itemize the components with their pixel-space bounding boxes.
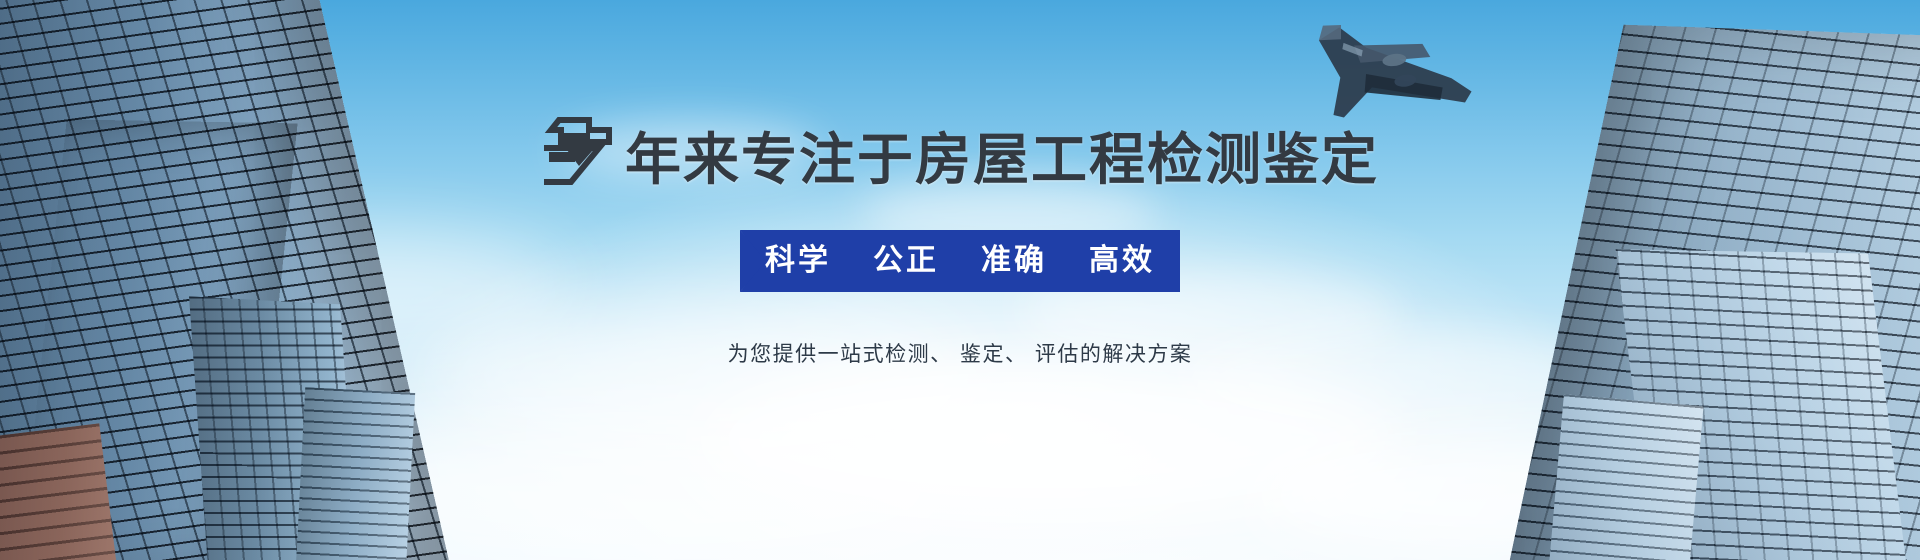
ribbon-item-1: 公正 [873,246,939,276]
page-title-text: 年来专注于房屋工程检测鉴定 [625,132,1379,188]
cloud-icon [420,300,980,450]
building-right-third [1547,394,1704,560]
airplane-icon [1293,1,1497,141]
banner-subtitle: 为您提供一站式检测、 鉴定、 评估的解决方案 [728,338,1193,368]
page-title: 年来专注于房屋工程检测鉴定 [541,112,1379,188]
ribbon-item-3: 高效 [1089,246,1155,276]
cloud-icon [560,120,820,180]
cloud-icon [700,360,1400,520]
ribbon-shape-icon [740,230,1180,292]
hero-banner: 年来专注于房屋工程检测鉴定 科学 公正 准确 高效 为您提供一站式检测、 鉴定、… [0,0,1920,560]
building-left-fourth [295,387,415,560]
keywords-ribbon: 科学 公正 准确 高效 [740,230,1180,292]
cloud-icon [1020,270,1400,360]
cloud-icon [860,180,1160,250]
duo-character-mark-icon [541,116,619,188]
ribbon-items: 科学 公正 准确 高效 [740,230,1180,292]
ribbon-item-2: 准确 [981,246,1047,276]
ribbon-item-0: 科学 [765,246,831,276]
